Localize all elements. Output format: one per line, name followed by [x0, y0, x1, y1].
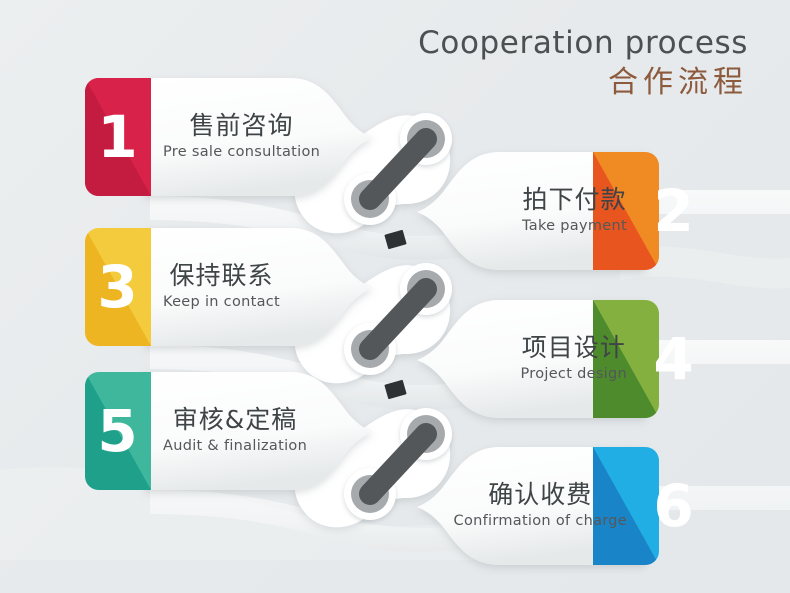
connector-1-2[interactable] [330, 105, 460, 235]
step-number-1: 1 [85, 108, 149, 166]
step-number-3: 3 [85, 258, 149, 316]
step-label-3: 保持联系 Keep in contact [163, 261, 280, 313]
step-card-4[interactable]: 4 项目设计 Project design [465, 300, 705, 418]
step-label-4-en: Project design [520, 365, 627, 385]
step-label-1-zh: 售前咨询 [163, 111, 320, 141]
step-card-6[interactable]: 6 确认收费 Confirmation of charge [465, 447, 705, 565]
step-label-5: 审核&定稿 Audit & finalization [163, 405, 307, 457]
step-number-2: 2 [641, 182, 705, 240]
step-card-5[interactable]: 5 审核&定稿 Audit & finalization [85, 372, 325, 490]
step-card-2[interactable]: 2 拍下付款 Take payment [465, 152, 705, 270]
step-label-1: 售前咨询 Pre sale consultation [163, 111, 320, 163]
step-number-5: 5 [85, 402, 149, 460]
page-title-chinese: 合作流程 [418, 64, 748, 102]
step-label-4: 项目设计 Project design [520, 333, 627, 385]
step-card-1[interactable]: 1 售前咨询 Pre sale consultation [85, 78, 325, 196]
step-label-4-zh: 项目设计 [520, 333, 627, 363]
step-label-1-en: Pre sale consultation [163, 143, 320, 163]
step-label-3-en: Keep in contact [163, 293, 280, 313]
step-label-5-zh: 审核&定稿 [163, 405, 307, 435]
step-label-6-en: Confirmation of charge [454, 512, 627, 532]
step-label-6-zh: 确认收费 [454, 480, 627, 510]
step-number-4: 4 [641, 330, 705, 388]
infographic-canvas: Cooperation process 合作流程 [0, 0, 790, 593]
step-label-2-zh: 拍下付款 [522, 185, 627, 215]
step-number-6: 6 [641, 477, 705, 535]
step-label-3-zh: 保持联系 [163, 261, 280, 291]
page-title-english: Cooperation process [418, 26, 748, 61]
step-label-2: 拍下付款 Take payment [522, 185, 627, 237]
step-card-3[interactable]: 3 保持联系 Keep in contact [85, 228, 325, 346]
step-label-6: 确认收费 Confirmation of charge [454, 480, 627, 532]
step-label-2-en: Take payment [522, 217, 627, 237]
title-block: Cooperation process 合作流程 [418, 26, 748, 101]
connector-5-6[interactable] [330, 400, 460, 530]
connector-3-4[interactable] [330, 255, 460, 385]
step-label-5-en: Audit & finalization [163, 437, 307, 457]
